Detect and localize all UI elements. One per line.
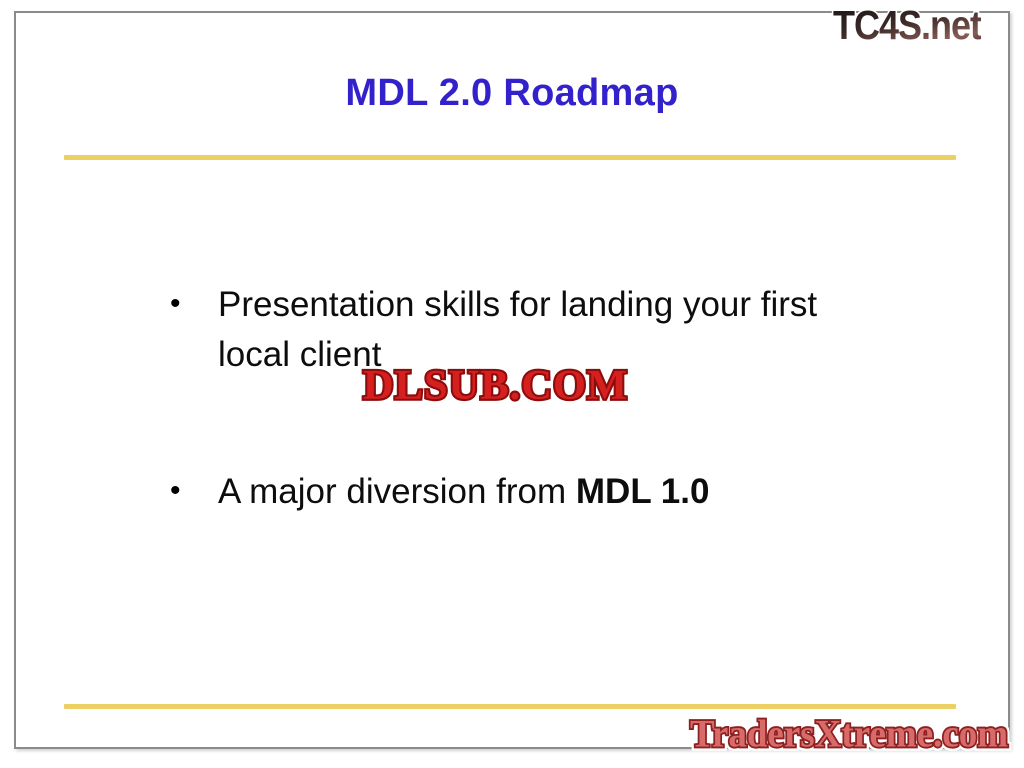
bullet-text-normal: A major diversion from: [218, 472, 576, 511]
bullet-text-emphasis: MDL 1.0: [576, 472, 710, 511]
bullet-text: A major diversion from MDL 1.0: [218, 467, 868, 517]
slide-title: MDL 2.0 Roadmap: [0, 72, 1024, 115]
divider-rule-bottom: [64, 704, 956, 709]
divider-rule-top: [64, 155, 956, 160]
watermark-tc4s: TC4S.net: [833, 2, 981, 49]
bullet-marker-icon: •: [170, 280, 218, 329]
bullet-item: • A major diversion from MDL 1.0: [170, 467, 910, 517]
bullet-marker-icon: •: [170, 467, 218, 516]
watermark-tradersxtreme-fill: TradersXtreme.com: [690, 712, 1008, 757]
watermark-dlsub-fill: DLSUB.COM: [363, 360, 628, 409]
